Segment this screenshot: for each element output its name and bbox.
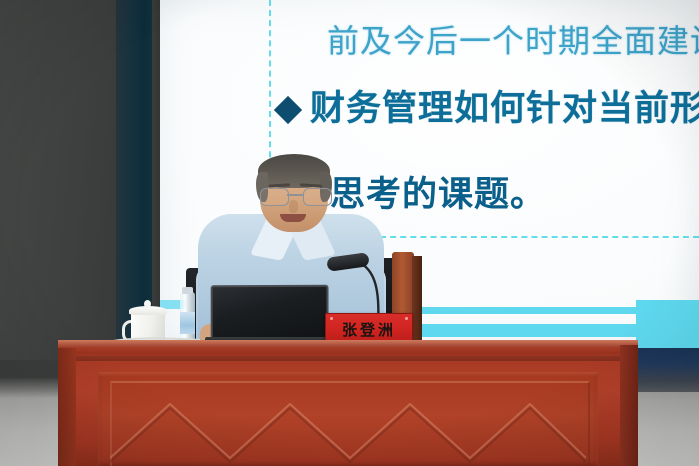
mug-lid-knob (144, 300, 151, 308)
nameplate-screw (330, 317, 333, 320)
back-wall-left (0, 0, 120, 360)
screenshot-scene: 前及今后一个时期全面建设 财务管理如何针对当前形势 思考的课题。 (0, 0, 699, 466)
laptop-screen[interactable] (211, 285, 329, 344)
eyeglass-lens-right (303, 188, 332, 206)
podium-left-face (58, 348, 76, 466)
podium-top-lip (58, 340, 638, 347)
slide-accent-band-thick (398, 324, 699, 337)
water-bottle-label (180, 312, 195, 334)
chair-wood-frame-edge (412, 256, 422, 344)
wall-below-screen (636, 348, 699, 392)
nameplate-screw (405, 317, 408, 320)
nameplate-text: 张登洲 (342, 323, 396, 338)
podium-right-face (620, 345, 638, 466)
speaker-nose (289, 200, 298, 213)
speaker-mouth (280, 214, 306, 222)
water-bottle-cap (182, 287, 193, 294)
podium-shadow-line (58, 356, 638, 361)
podium-diamond-carving (110, 398, 586, 466)
eyeglass-bridge (287, 194, 303, 196)
eyeglass-lens-left (260, 188, 289, 206)
